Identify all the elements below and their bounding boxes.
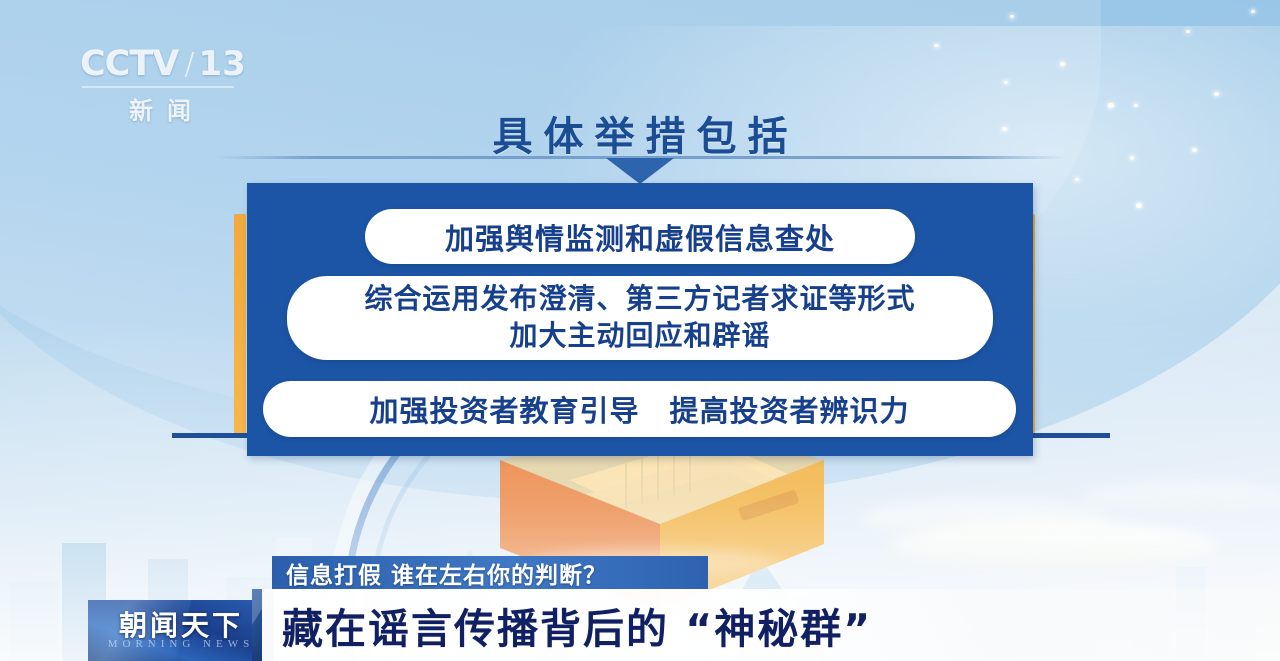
measure-item-2-line-1: 综合运用发布澄清、第三方记者求证等形式 [364,281,915,318]
cctv-slash-icon: / [184,47,194,82]
lower-third-subtitle: 信息打假 谁在左右你的判断？ [286,556,607,590]
lower-third-subtitle-bar: 信息打假 谁在左右你的判断？ [272,556,708,589]
measure-item-3: 加强投资者教育引导 提高投资者辨识力 [263,381,1016,437]
lower-third-headline: 藏在谣言传播背后的 “神秘群” [282,595,872,655]
measure-item-1: 加强舆情监测和虚假信息查处 [365,209,915,264]
page-title-wrap: 具体举措包括 [0,104,1280,162]
cloud [1080,483,1280,511]
cctv-logo-divider [82,86,234,88]
cctv-logo-number: 13 [198,44,245,84]
measure-item-1-line-1: 加强舆情监测和虚假信息查处 [445,216,835,258]
cctv-logo-text: CCTV [80,44,178,84]
broadcast-screen: CCTV / 13 新闻 具体举措包括 加强舆情监测和虚假信息查处 综合运用发布… [0,0,1280,661]
measure-item-3-line-1: 加强投资者教育引导 提高投资者辨识力 [369,388,909,430]
program-logo: 朝闻天下 MORNING NEWS [88,600,274,661]
cloud [860,501,1110,535]
program-name-en: MORNING NEWS [88,638,274,650]
lower-third-headline-bar: 藏在谣言传播背后的 “神秘群” [262,589,1280,661]
measure-item-2-line-2: 加大主动回应和辟谣 [509,318,770,355]
measure-item-2: 综合运用发布澄清、第三方记者求证等形式 加大主动回应和辟谣 [287,276,993,360]
down-arrow-icon [606,158,674,184]
page-title: 具体举措包括 [0,104,1280,162]
accent-bar-left [234,214,246,436]
